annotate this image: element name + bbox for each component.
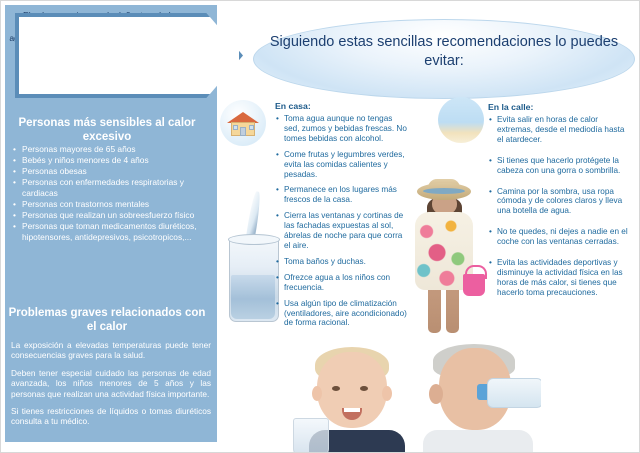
list-en-la-calle: Evita salir en horas de calor extremas, …: [489, 115, 631, 309]
paragraph: Si tienes restricciones de líquidos o to…: [11, 406, 211, 427]
toddler-teeth: [344, 408, 360, 412]
list-item: Usa algún tipo de climatización (ventila…: [276, 299, 410, 329]
girl-leg-right: [446, 285, 459, 333]
list-item: Si tienes que hacerlo protégete la cabez…: [489, 156, 631, 176]
callout-inner: [19, 17, 247, 102]
warning-callout-box: [15, 13, 243, 98]
list-item: Evita salir en horas de calor extremas, …: [489, 115, 631, 145]
list-item: Camina por la sombra, usa ropa cómoda y …: [489, 187, 631, 217]
toddler-ear-right: [382, 386, 392, 401]
pink-bucket: [463, 274, 485, 296]
glass-water: [231, 275, 275, 319]
paragraph: La exposición a elevadas temperaturas pu…: [11, 340, 211, 361]
house-icon: [220, 100, 266, 146]
list-item: Toma agua aunque no tengas sed, zumos y …: [276, 114, 410, 144]
list-item: Personas obesas: [13, 166, 211, 177]
toddler-eye-right: [360, 386, 368, 391]
heading-problemas-graves: Problemas graves relacionados con el cal…: [7, 307, 207, 334]
glass-rim: [228, 234, 280, 245]
header-title: Siguiendo estas sencillas recomendacione…: [263, 33, 625, 71]
toddler-eye-left: [332, 386, 340, 391]
water-bottle: [487, 378, 541, 408]
house-window-left: [233, 125, 238, 130]
column-heading-en-casa: En casa:: [275, 101, 311, 111]
beach-sky-icon: [438, 97, 484, 143]
list-en-casa: Toma agua aunque no tengas sed, zumos y …: [276, 114, 410, 334]
list-item: Personas con trastornos mentales: [13, 199, 211, 210]
house-glyph: [228, 112, 258, 136]
list-personas-sensibles: Personas mayores de 65 años Bebés y niño…: [13, 144, 211, 243]
list-item: Toma baños y duchas.: [276, 257, 410, 267]
list-item: Personas mayores de 65 años: [13, 144, 211, 155]
paragraph: Deben tener especial cuidado las persona…: [11, 368, 211, 399]
list-item: Bebés y niños menores de 4 años: [13, 155, 211, 166]
elderly-shirt: [423, 430, 533, 453]
toddler-water-glass: [293, 418, 329, 453]
photo-toddler-drinking: [293, 346, 411, 453]
list-item: Evita las actividades deportivas y dismi…: [489, 258, 631, 298]
heading-personas-sensibles: Personas más sensibles al calor excesivo: [7, 117, 207, 144]
house-door: [240, 127, 246, 136]
list-item: Personas con enfermedades respiratorias …: [13, 177, 211, 198]
list-item: Come frutas y legumbres verdes, evita la…: [276, 150, 410, 180]
list-item: No te quedes, ni dejes a nadie en el coc…: [489, 227, 631, 247]
photo-girl-with-hat: [401, 179, 487, 344]
infographic-poster: El calor excesivo puede dañar tu salud, …: [0, 0, 640, 453]
column-heading-en-la-calle: En la calle:: [488, 102, 533, 112]
list-item: Personas que realizan un sobreesfuerzo f…: [13, 210, 211, 221]
list-item: Personas que toman medicamentos diurétic…: [13, 221, 211, 242]
girl-leg-left: [428, 285, 441, 333]
toddler-ear-left: [312, 386, 322, 401]
house-window-right: [249, 125, 254, 130]
list-item: Cierra las ventanas y cortinas de las fa…: [276, 211, 410, 251]
problemas-paragraphs: La exposición a elevadas temperaturas pu…: [11, 340, 211, 434]
elderly-ear: [429, 384, 443, 404]
list-item: Permanece en los lugares más frescos de …: [276, 185, 410, 205]
photo-elderly-man-drinking: [413, 344, 541, 453]
girl-hat-band: [423, 188, 465, 194]
list-item: Ofrezce agua a los niños con frecuencia.: [276, 273, 410, 293]
